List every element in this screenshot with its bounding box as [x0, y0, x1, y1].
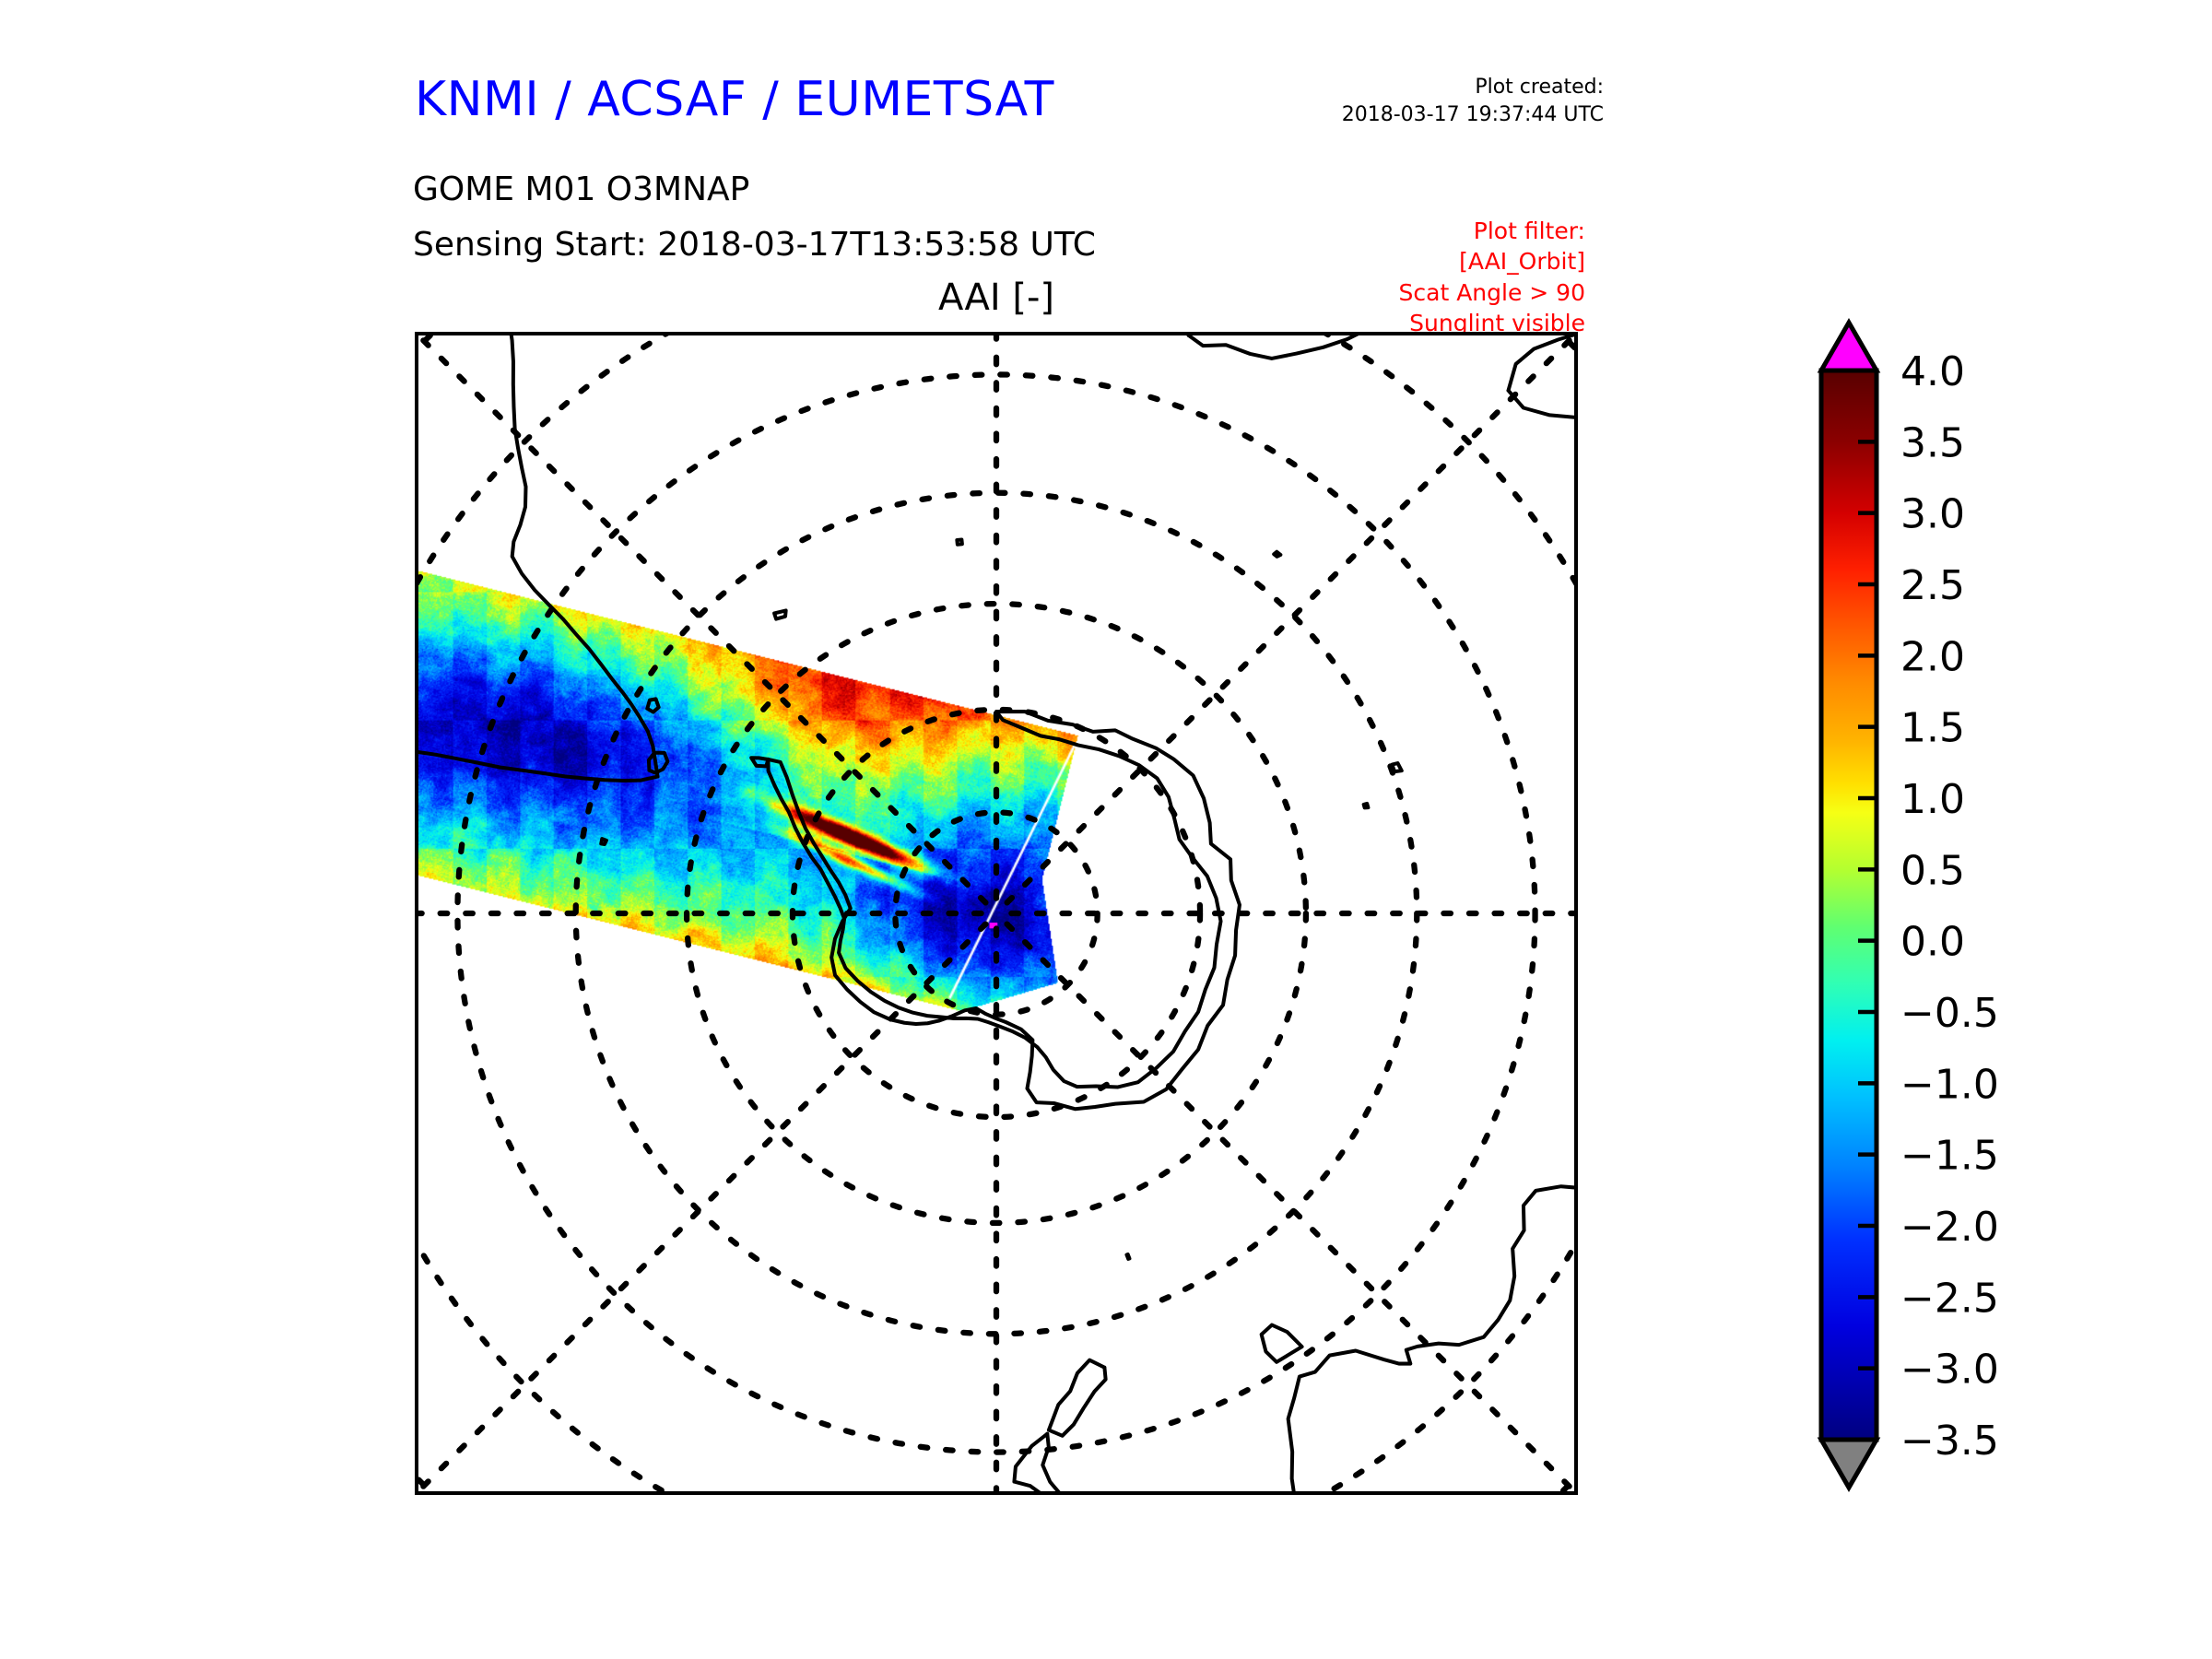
colorbar-tick-label: 4.0	[1900, 348, 1965, 395]
plot-created-block: Plot created: 2018-03-17 19:37:44 UTC	[1272, 74, 1604, 128]
colorbar-tick-label: 3.0	[1900, 491, 1965, 538]
plot-filter-name: [AAI_Orbit]	[1318, 246, 1585, 276]
colorbar-tick-label: −2.5	[1900, 1275, 1999, 1322]
colorbar-tick-label: −3.0	[1900, 1347, 1999, 1394]
colorbar-tick-label: 0.0	[1900, 919, 1965, 966]
sensing-start-text: Sensing Start: 2018-03-17T13:53:58 UTC	[413, 226, 1096, 264]
plot-created-label: Plot created:	[1272, 74, 1604, 101]
coastline-path	[1364, 804, 1369, 808]
plot-filter-label: Plot filter:	[1318, 216, 1585, 246]
coastline-path	[1274, 552, 1280, 557]
colorbar: 4.03.53.02.52.01.51.00.50.0−0.5−1.0−1.5−…	[1797, 313, 2184, 1512]
colorbar-tick-label: −2.0	[1900, 1204, 1999, 1251]
colorbar-over-arrow	[1821, 323, 1877, 371]
map-panel	[415, 332, 1578, 1495]
colorbar-tick-label: 1.5	[1900, 705, 1965, 752]
polar-stereographic-map	[418, 335, 1574, 1491]
colorbar-gradient	[1821, 371, 1877, 1440]
colorbar-tick-label: −1.5	[1900, 1133, 1999, 1180]
colorbar-tick-label: 3.5	[1900, 419, 1965, 466]
product-name: GOME M01 O3MNAP	[413, 171, 749, 208]
colorbar-tick-label: 2.5	[1900, 562, 1965, 609]
colorbar-panel: 4.03.53.02.52.01.51.00.50.0−0.5−1.0−1.5−…	[1797, 313, 2184, 1512]
plot-created-value: 2018-03-17 19:37:44 UTC	[1272, 101, 1604, 129]
page-title: AAI [-]	[415, 276, 1578, 319]
plot-page: KNMI / ACSAF / EUMETSAT Plot created: 20…	[0, 0, 2212, 1659]
colorbar-tick-label: −0.5	[1900, 990, 1999, 1037]
colorbar-tick-label: 1.0	[1900, 776, 1965, 823]
colorbar-tick-label: −1.0	[1900, 1061, 1999, 1108]
colorbar-tick-label: 0.5	[1900, 847, 1965, 894]
coastline-path	[1126, 1254, 1129, 1259]
colorbar-under-arrow	[1821, 1440, 1877, 1488]
colorbar-tick-label: −3.5	[1900, 1418, 1999, 1465]
colorbar-tick-label: 2.0	[1900, 633, 1965, 680]
brand-title: KNMI / ACSAF / EUMETSAT	[415, 72, 1054, 127]
